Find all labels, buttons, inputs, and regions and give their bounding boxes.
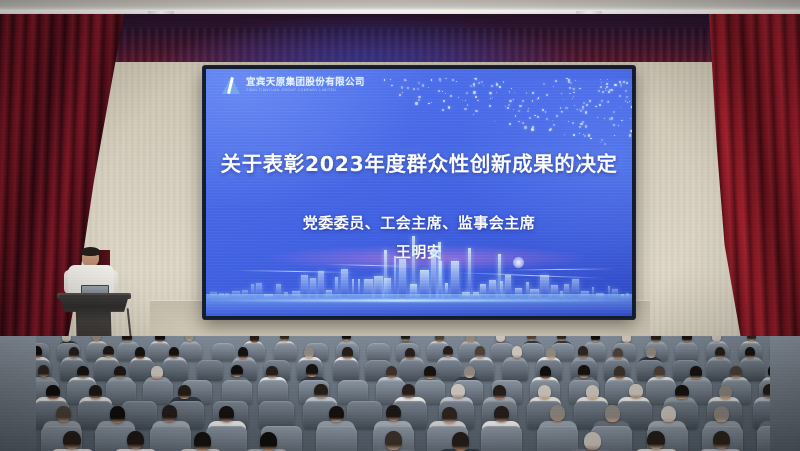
presentation-slide: 宜宾天原集团股份有限公司 YIBIN TIANYUAN GROUP COMPAN… <box>206 69 632 316</box>
audience-head <box>178 385 191 399</box>
audience-head <box>405 348 415 359</box>
audience-head <box>110 406 125 422</box>
conference-hall-scene: 宜宾天原集团股份有限公司 YIBIN TIANYUAN GROUP COMPAN… <box>0 0 800 451</box>
audience-head <box>578 346 588 357</box>
audience-head <box>151 366 163 379</box>
audience-head <box>342 347 352 358</box>
audience-head <box>466 336 475 343</box>
presenter-hair <box>81 247 100 256</box>
audience-head <box>386 405 401 421</box>
audience-head <box>719 385 732 399</box>
audience-head <box>512 346 522 357</box>
aisle-left <box>0 336 36 451</box>
audience-head <box>77 366 89 379</box>
audience-head <box>443 346 453 357</box>
audience-head <box>622 336 631 343</box>
audience-head <box>314 384 327 398</box>
audience-head <box>162 405 177 421</box>
audience-head <box>614 366 626 379</box>
audience-head <box>442 407 457 423</box>
audience-head <box>452 432 469 451</box>
audience-head <box>238 347 248 358</box>
audience-head <box>424 366 436 379</box>
audience-head <box>578 365 590 378</box>
audience-head <box>402 384 415 398</box>
audience-head <box>586 385 599 399</box>
audience-head <box>306 364 318 377</box>
audience-head <box>103 346 113 357</box>
audience-head <box>38 365 50 378</box>
audience-head <box>127 431 144 450</box>
aisle-right <box>770 336 800 451</box>
audience-head <box>538 385 551 399</box>
audience-head <box>122 336 131 342</box>
audience-head <box>661 406 676 422</box>
audience-head <box>546 348 556 359</box>
audience-head <box>629 384 642 398</box>
audience-head <box>647 431 664 450</box>
audience-head <box>194 432 211 451</box>
audience-head <box>250 336 259 343</box>
audience-seating <box>0 336 800 451</box>
audience-head <box>464 366 476 379</box>
audience-head <box>329 406 344 422</box>
audience-head <box>385 431 402 450</box>
audience-row <box>0 443 800 451</box>
valance-blue-reflection <box>140 14 600 68</box>
audience-head <box>730 366 742 379</box>
audience-head <box>550 405 565 421</box>
audience-head <box>56 406 71 422</box>
audience-head <box>713 431 730 450</box>
audience-head <box>493 385 506 399</box>
audience-head <box>135 347 145 358</box>
audience-head <box>155 336 164 342</box>
audience-head <box>231 365 243 378</box>
audience-head <box>114 366 126 379</box>
audience-head <box>169 347 179 358</box>
audience-head <box>46 385 59 399</box>
audience-head <box>260 432 277 451</box>
audience-head <box>712 336 721 342</box>
audience-head <box>690 366 702 379</box>
audience-head <box>494 406 509 422</box>
audience-head <box>613 348 623 359</box>
led-scanlines <box>206 69 632 316</box>
audience-head <box>540 366 552 379</box>
audience-head <box>63 431 80 450</box>
audience-head <box>646 347 656 358</box>
audience-head <box>219 406 234 422</box>
audience-head <box>675 385 688 399</box>
audience-head <box>715 347 725 358</box>
audience-head <box>745 347 755 358</box>
audience-head <box>89 385 102 399</box>
audience-head <box>451 384 464 398</box>
audience-head <box>605 405 620 421</box>
audience-head <box>714 406 729 422</box>
audience-head <box>584 432 601 451</box>
audience-head <box>386 366 398 379</box>
audience-head <box>266 366 278 379</box>
audience-head <box>654 366 666 379</box>
audience-head <box>475 346 485 357</box>
